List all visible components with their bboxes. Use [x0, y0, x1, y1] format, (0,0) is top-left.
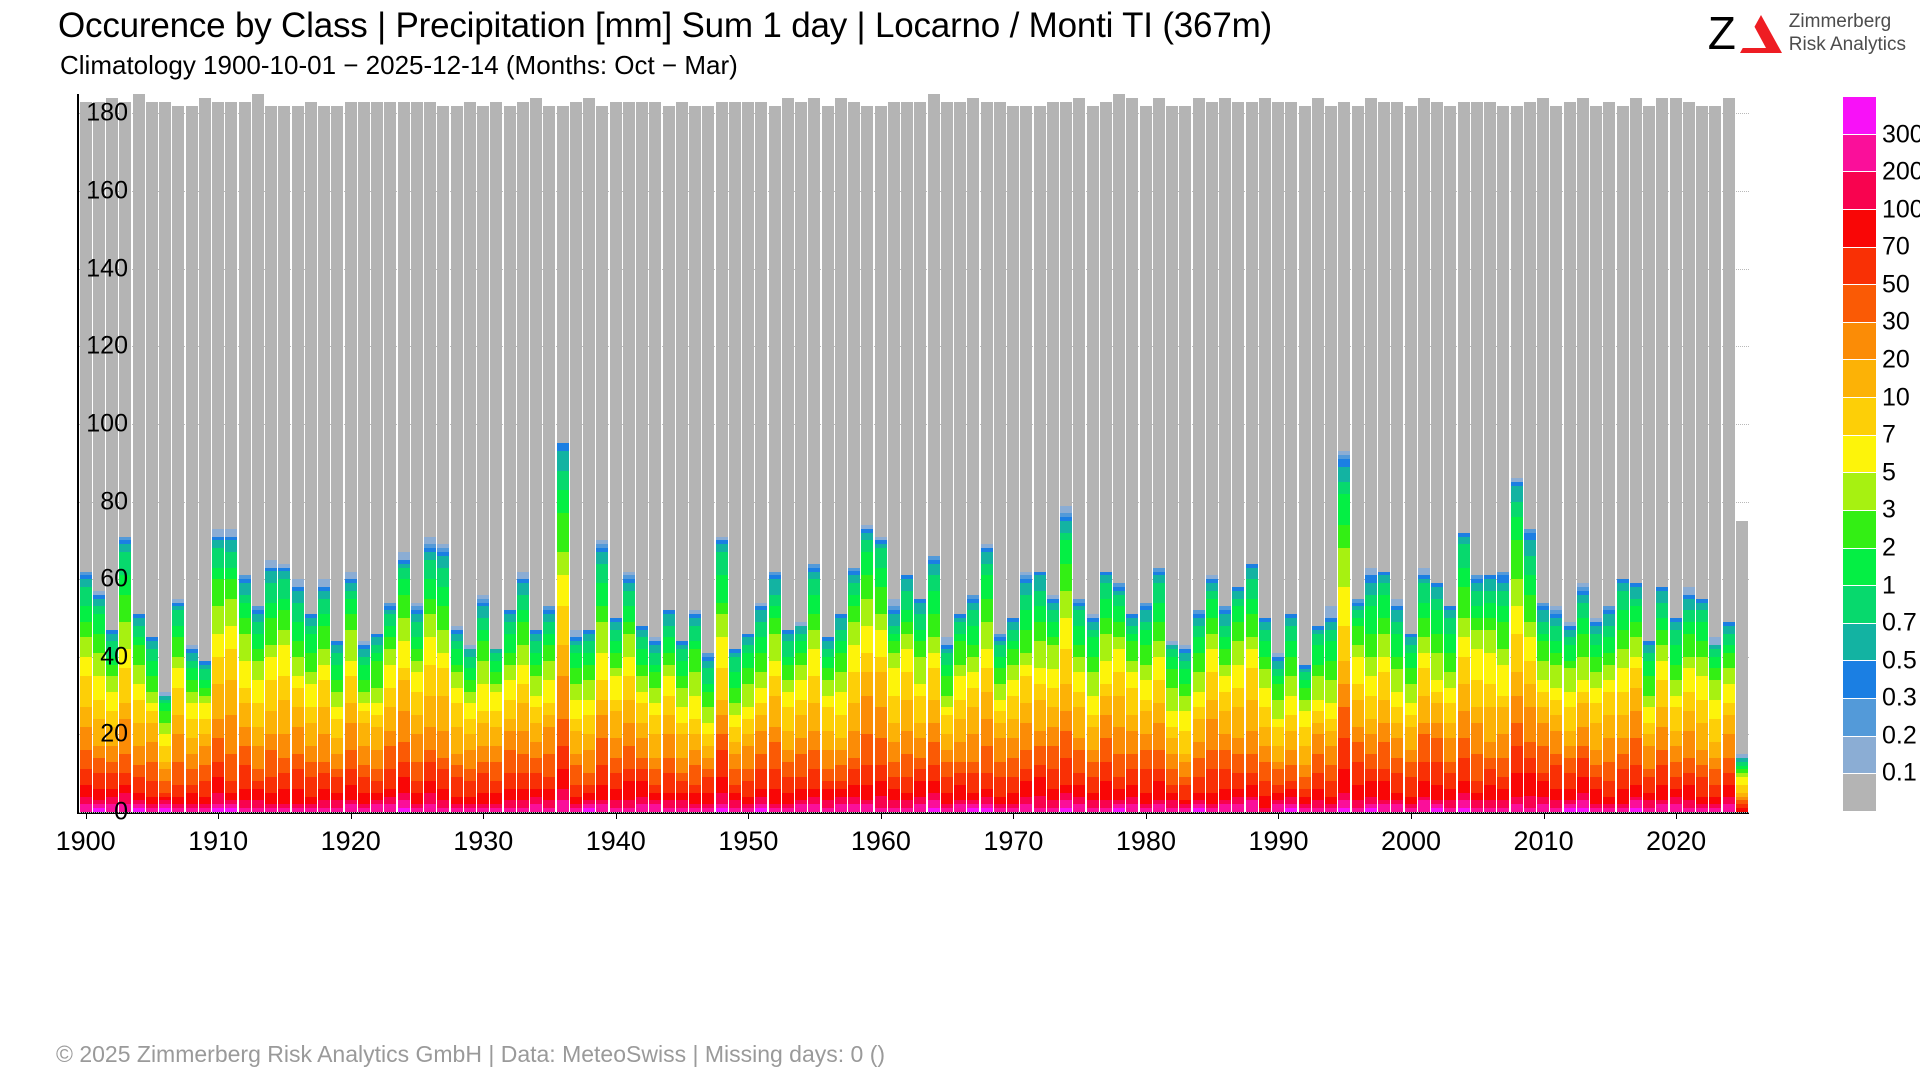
bar-1910[interactable]	[212, 102, 224, 812]
bar-2016[interactable]	[1617, 106, 1629, 812]
bar-segment	[437, 668, 449, 695]
bar-segment	[278, 789, 290, 805]
bar-1931[interactable]	[490, 102, 502, 812]
bar-segment	[331, 680, 343, 692]
bar-segment	[848, 797, 860, 805]
bar-1946[interactable]	[689, 106, 701, 812]
bar-1971[interactable]	[1020, 106, 1032, 812]
bar-1975[interactable]	[1073, 98, 1085, 812]
bar-segment	[1285, 731, 1297, 750]
bar-1918[interactable]	[318, 106, 330, 812]
bar-segment-dry	[477, 106, 489, 595]
bar-segment	[729, 769, 741, 785]
bar-2020[interactable]	[1670, 98, 1682, 812]
bar-segment	[1034, 796, 1046, 808]
bar-1972[interactable]	[1034, 106, 1046, 812]
bar-2009[interactable]	[1524, 102, 1536, 812]
bar-1923[interactable]	[384, 102, 396, 812]
bar-1939[interactable]	[596, 106, 608, 812]
bar-segment	[1047, 645, 1059, 668]
bar-segment	[941, 762, 953, 778]
bar-segment	[265, 734, 277, 750]
bar-segment	[1179, 808, 1191, 812]
bar-2007[interactable]	[1497, 106, 1509, 812]
bar-segment	[1497, 696, 1509, 708]
bar-segment-extreme	[1670, 808, 1682, 812]
bar-2001[interactable]	[1418, 98, 1430, 812]
bar-1988[interactable]	[1246, 102, 1258, 812]
bar-segment-dry	[1550, 106, 1562, 607]
bar-segment	[649, 715, 661, 734]
bar-segment	[1617, 715, 1629, 738]
bar-segment	[212, 540, 224, 548]
bar-segment	[663, 696, 675, 715]
bar-1916[interactable]	[292, 106, 304, 812]
bar-segment	[1524, 684, 1536, 707]
bar-segment	[1723, 653, 1735, 669]
bar-segment	[1060, 618, 1072, 649]
bar-segment	[1325, 630, 1337, 642]
bar-segment	[1723, 785, 1735, 797]
bar-1989[interactable]	[1259, 98, 1271, 812]
bar-segment	[782, 665, 794, 681]
bar-segment	[292, 622, 304, 641]
bar-segment	[1709, 758, 1721, 770]
bar-2004[interactable]	[1458, 102, 1470, 812]
bar-2018[interactable]	[1643, 106, 1655, 812]
bar-segment	[914, 738, 926, 757]
bar-1900[interactable]	[80, 102, 92, 812]
bar-2021[interactable]	[1683, 102, 1695, 812]
bar-1909[interactable]	[199, 98, 211, 812]
colorbar-tick-label: 10	[1882, 383, 1910, 412]
bar-1961[interactable]	[888, 102, 900, 812]
bar-segment	[384, 731, 396, 747]
bar-1999[interactable]	[1391, 102, 1403, 812]
bar-1948[interactable]	[716, 102, 728, 812]
bar-1955[interactable]	[808, 98, 820, 812]
bar-segment	[1338, 793, 1350, 801]
bar-1943[interactable]	[649, 102, 661, 812]
bar-1903[interactable]	[119, 102, 131, 812]
bar-segment	[1272, 661, 1284, 669]
bar-1968[interactable]	[981, 102, 993, 812]
bar-segment	[835, 641, 847, 653]
bar-1986[interactable]	[1219, 98, 1231, 812]
bar-2017[interactable]	[1630, 98, 1642, 812]
bar-1983[interactable]	[1179, 106, 1191, 812]
bar-segment	[1603, 637, 1615, 653]
bar-segment	[371, 781, 383, 793]
bar-1914[interactable]	[265, 106, 277, 812]
bar-segment	[1431, 703, 1443, 722]
bar-segment-extreme	[1113, 808, 1125, 812]
bar-segment	[239, 688, 251, 704]
bar-segment	[318, 579, 330, 587]
bar-segment	[199, 696, 211, 704]
bar-segment	[901, 808, 913, 812]
bar-segment	[1378, 618, 1390, 634]
bar-segment	[477, 684, 489, 711]
bar-segment	[146, 781, 158, 797]
bar-segment	[1656, 785, 1668, 801]
bar-1993[interactable]	[1312, 98, 1324, 812]
bar-2013[interactable]	[1577, 98, 1589, 812]
bar-segment	[769, 808, 781, 812]
bar-1934[interactable]	[530, 98, 542, 812]
bar-segment	[861, 653, 873, 672]
bar-1912[interactable]	[239, 102, 251, 812]
bar-segment	[981, 797, 993, 805]
bar-segment	[795, 789, 807, 801]
bar-1998[interactable]	[1378, 102, 1390, 812]
bar-1922[interactable]	[371, 102, 383, 812]
bar-segment	[1656, 765, 1668, 784]
bar-segment	[1126, 715, 1138, 731]
colorbar-tick-label: 0.3	[1882, 684, 1917, 713]
bar-segment	[623, 634, 635, 657]
bar-segment	[437, 556, 449, 568]
bar-1928[interactable]	[451, 106, 463, 812]
bar-segment	[1047, 707, 1059, 726]
bar-segment	[1431, 599, 1443, 611]
bar-1966[interactable]	[954, 102, 966, 812]
bar-segment	[1458, 793, 1470, 801]
colorbar-segment	[1843, 473, 1876, 511]
bar-segment	[1617, 692, 1629, 715]
bar-segment	[265, 645, 277, 657]
bar-segment	[1073, 707, 1085, 738]
page-title: Occurence by Class | Precipitation [mm] …	[58, 6, 1272, 46]
bar-segment	[345, 572, 357, 580]
bar-segment	[146, 808, 158, 812]
bar-1932[interactable]	[504, 106, 516, 812]
bar-1927[interactable]	[437, 106, 449, 812]
bar-segment	[1312, 800, 1324, 808]
bar-2025[interactable]	[1736, 521, 1748, 812]
bar-segment	[331, 707, 343, 719]
bar-segment	[305, 808, 317, 812]
bar-segment	[1497, 583, 1509, 591]
bar-segment	[1272, 727, 1284, 746]
bar-1944[interactable]	[663, 106, 675, 812]
bar-segment	[1484, 758, 1496, 770]
x-axis-tick-label: 1970	[983, 826, 1043, 857]
bar-segment	[451, 727, 463, 754]
bar-1940[interactable]	[610, 102, 622, 812]
bar-segment	[1471, 723, 1483, 754]
bar-segment	[557, 490, 569, 513]
bar-segment	[596, 738, 608, 765]
bar-2012[interactable]	[1564, 102, 1576, 812]
bar-1994[interactable]	[1325, 106, 1337, 812]
bar-segment	[1630, 800, 1642, 808]
bar-segment	[172, 610, 184, 626]
bar-segment	[1100, 738, 1112, 761]
bar-segment	[212, 634, 224, 657]
bar-segment	[1391, 793, 1403, 801]
bar-segment	[1140, 680, 1152, 699]
bar-segment-dry	[1590, 106, 1602, 618]
bar-segment	[1643, 676, 1655, 695]
bar-segment-extreme	[716, 808, 728, 812]
bar-segment-dry	[1736, 521, 1748, 754]
bar-segment-extreme	[1458, 808, 1470, 812]
bar-segment	[1524, 796, 1536, 808]
bar-1960[interactable]	[875, 106, 887, 812]
bar-segment	[663, 665, 675, 677]
bar-segment	[265, 603, 277, 619]
bar-2003[interactable]	[1444, 106, 1456, 812]
bar-1987[interactable]	[1232, 102, 1244, 812]
bar-1982[interactable]	[1166, 106, 1178, 812]
bar-1995[interactable]	[1338, 102, 1350, 812]
bar-1933[interactable]	[517, 102, 529, 812]
bar-2008[interactable]	[1511, 106, 1523, 812]
bar-1977[interactable]	[1100, 102, 1112, 812]
bar-segment	[570, 785, 582, 797]
bar-1904[interactable]	[133, 94, 145, 812]
bar-segment	[702, 692, 714, 708]
bar-segment	[318, 614, 330, 626]
bar-segment	[252, 614, 264, 622]
bar-segment	[1193, 777, 1205, 793]
bar-segment	[1670, 630, 1682, 646]
bar-1947[interactable]	[702, 106, 714, 812]
bar-1924[interactable]	[398, 102, 410, 812]
bar-segment	[1550, 800, 1562, 808]
bar-segment	[1047, 610, 1059, 622]
bar-1908[interactable]	[186, 106, 198, 812]
bar-segment	[1193, 692, 1205, 708]
bar-segment	[1206, 793, 1218, 805]
bar-segment	[1709, 797, 1721, 805]
bar-2006[interactable]	[1484, 102, 1496, 812]
bar-1967[interactable]	[967, 98, 979, 812]
bar-2010[interactable]	[1537, 98, 1549, 812]
bar-segment	[1391, 723, 1403, 739]
bar-segment-extreme	[1630, 808, 1642, 812]
x-axis-tick	[351, 812, 352, 819]
bar-segment	[994, 723, 1006, 739]
bar-segment	[1365, 797, 1377, 805]
bar-segment	[225, 540, 237, 552]
bar-segment	[186, 769, 198, 785]
bar-segment	[1617, 630, 1629, 649]
bar-segment	[345, 583, 357, 591]
colorbar-segment	[1843, 285, 1876, 323]
bar-1935[interactable]	[543, 106, 555, 812]
bar-1956[interactable]	[822, 106, 834, 812]
bar-segment	[1140, 622, 1152, 630]
bar-1929[interactable]	[464, 102, 476, 812]
bar-2014[interactable]	[1590, 106, 1602, 812]
bar-segment	[1444, 808, 1456, 812]
bar-1981[interactable]	[1153, 98, 1165, 812]
bar-2023[interactable]	[1709, 106, 1721, 812]
bar-1958[interactable]	[848, 102, 860, 812]
bar-segment	[1338, 769, 1350, 792]
bar-segment	[1232, 738, 1244, 754]
bar-1906[interactable]	[159, 102, 171, 812]
bar-1963[interactable]	[914, 102, 926, 812]
bar-segment	[954, 773, 966, 785]
bar-segment	[517, 731, 529, 754]
bar-segment	[199, 797, 211, 805]
bar-1915[interactable]	[278, 106, 290, 812]
bar-1913[interactable]	[252, 94, 264, 812]
bar-segment	[1683, 773, 1695, 785]
bar-segment	[1338, 494, 1350, 525]
bar-segment	[1047, 769, 1059, 788]
bar-1976[interactable]	[1087, 106, 1099, 812]
bar-1952[interactable]	[769, 106, 781, 812]
bar-segment	[1418, 800, 1430, 808]
bar-1985[interactable]	[1206, 102, 1218, 812]
bar-segment	[345, 599, 357, 615]
bar-1970[interactable]	[1007, 106, 1019, 812]
bar-segment	[543, 800, 555, 808]
bar-segment	[1020, 703, 1032, 722]
bar-segment	[967, 603, 979, 611]
bar-segment	[1511, 797, 1523, 805]
bar-segment	[1219, 649, 1231, 665]
bar-segment	[1670, 762, 1682, 778]
bar-segment-extreme	[981, 808, 993, 812]
bar-segment	[557, 513, 569, 552]
bar-segment	[901, 754, 913, 777]
bar-1950[interactable]	[742, 102, 754, 812]
bar-1920[interactable]	[345, 102, 357, 812]
bar-segment	[490, 653, 502, 661]
bar-1959[interactable]	[861, 106, 873, 812]
bar-segment	[1630, 711, 1642, 738]
bar-segment	[252, 789, 264, 801]
bar-2015[interactable]	[1603, 102, 1615, 812]
bar-1980[interactable]	[1140, 106, 1152, 812]
bar-1945[interactable]	[676, 102, 688, 812]
bar-segment-dry	[1617, 106, 1629, 579]
bar-segment	[1497, 707, 1509, 734]
bar-1964[interactable]	[928, 94, 940, 812]
bar-segment	[199, 734, 211, 746]
bar-1969[interactable]	[994, 102, 1006, 812]
bar-segment	[742, 769, 754, 781]
bar-segment	[981, 692, 993, 719]
bar-1921[interactable]	[358, 102, 370, 812]
bar-segment	[1683, 634, 1695, 657]
bar-1919[interactable]	[331, 106, 343, 812]
bar-segment	[239, 595, 251, 603]
bar-segment	[1564, 758, 1576, 774]
bar-1997[interactable]	[1365, 98, 1377, 812]
bar-1937[interactable]	[570, 102, 582, 812]
bar-segment	[543, 754, 555, 777]
bar-2005[interactable]	[1471, 102, 1483, 812]
bar-segment	[186, 754, 198, 770]
bar-1907[interactable]	[172, 106, 184, 812]
bar-1936[interactable]	[557, 106, 569, 812]
bar-1962[interactable]	[901, 102, 913, 812]
bar-1996[interactable]	[1352, 106, 1364, 812]
bar-1992[interactable]	[1299, 106, 1311, 812]
bar-segment	[649, 785, 661, 793]
bar-1991[interactable]	[1285, 102, 1297, 812]
bar-segment	[437, 587, 449, 606]
bar-1949[interactable]	[729, 102, 741, 812]
bar-segment	[292, 688, 304, 707]
bar-segment	[1365, 595, 1377, 607]
bar-segment-extreme	[1232, 808, 1244, 812]
bar-segment	[742, 734, 754, 746]
bar-segment	[1603, 808, 1615, 812]
bar-segment	[1272, 793, 1284, 801]
bar-segment	[358, 777, 370, 793]
bar-segment	[716, 544, 728, 552]
bar-1990[interactable]	[1272, 102, 1284, 812]
bar-segment	[901, 800, 913, 808]
bar-1951[interactable]	[755, 102, 767, 812]
bar-1979[interactable]	[1126, 98, 1138, 812]
bar-1965[interactable]	[941, 102, 953, 812]
bar-1973[interactable]	[1047, 102, 1059, 812]
bar-segment-dry	[1444, 106, 1456, 607]
bar-1930[interactable]	[477, 106, 489, 812]
bar-2022[interactable]	[1696, 106, 1708, 812]
bar-segment	[848, 645, 860, 672]
bar-segment	[1100, 661, 1112, 684]
bar-segment	[954, 665, 966, 677]
bar-segment	[119, 754, 131, 773]
bar-1941[interactable]	[623, 102, 635, 812]
bar-1917[interactable]	[305, 102, 317, 812]
bar-2019[interactable]	[1656, 98, 1668, 812]
bar-segment	[1285, 750, 1297, 766]
bar-segment	[504, 665, 516, 681]
bar-1978[interactable]	[1113, 94, 1125, 812]
bar-segment	[702, 808, 714, 812]
bar-segment-extreme	[212, 808, 224, 812]
bar-segment	[901, 672, 913, 699]
bar-segment	[981, 622, 993, 649]
bar-1953[interactable]	[782, 98, 794, 812]
bar-1926[interactable]	[424, 102, 436, 812]
bar-1984[interactable]	[1193, 98, 1205, 812]
bar-1954[interactable]	[795, 102, 807, 812]
bar-1974[interactable]	[1060, 102, 1072, 812]
x-axis-tick	[616, 812, 617, 819]
bar-segment	[1073, 738, 1085, 750]
bar-segment	[729, 808, 741, 812]
bar-2000[interactable]	[1405, 106, 1417, 812]
bar-segment	[530, 653, 542, 665]
bar-1938[interactable]	[583, 98, 595, 812]
bar-2011[interactable]	[1550, 106, 1562, 812]
bar-segment	[530, 641, 542, 653]
bar-1942[interactable]	[636, 102, 648, 812]
bar-2002[interactable]	[1431, 102, 1443, 812]
bar-1957[interactable]	[835, 98, 847, 812]
bar-1925[interactable]	[411, 102, 423, 812]
bar-segment	[557, 746, 569, 769]
bar-segment	[1179, 669, 1191, 685]
bar-segment	[1736, 808, 1748, 812]
bar-1905[interactable]	[146, 102, 158, 812]
bar-segment	[1590, 703, 1602, 722]
bar-1901[interactable]	[93, 102, 105, 812]
bar-2024[interactable]	[1723, 98, 1735, 812]
bar-1911[interactable]	[225, 102, 237, 812]
